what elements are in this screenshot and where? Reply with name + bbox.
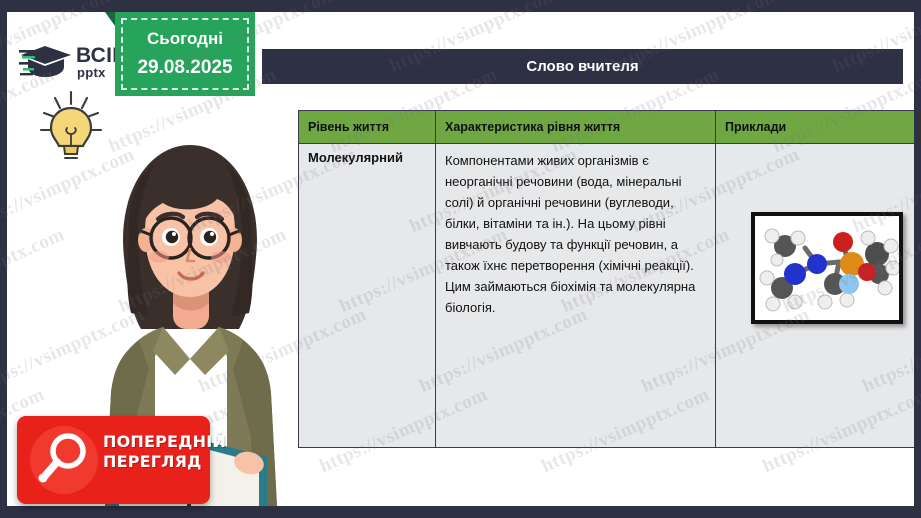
- column-header-characteristic: Характеристика рівня життя: [436, 111, 716, 144]
- life-levels-table: Рівень життя Характеристика рівня життя …: [298, 110, 914, 448]
- logo-text-sub: pptx: [77, 65, 106, 80]
- column-header-level: Рівень життя: [299, 111, 436, 144]
- preview-badge[interactable]: ПОПЕРЕДНІЙ ПЕРЕГЛЯД: [17, 416, 210, 504]
- cell-level-name: Молекулярний: [299, 144, 436, 448]
- table-head: Рівень життя Характеристика рівня життя …: [299, 111, 915, 144]
- table-header-row: Рівень життя Характеристика рівня життя …: [299, 111, 915, 144]
- page-title: Слово вчителя: [526, 58, 638, 75]
- ball-and-stick-molecule-model: [751, 212, 903, 324]
- graduation-cap-icon: [19, 42, 75, 86]
- lightbulb-icon: [37, 84, 105, 166]
- date-ribbon: Сьогодні 29.08.2025: [115, 12, 255, 96]
- slide-header-bar: Слово вчителя: [262, 49, 903, 84]
- preview-badge-line2: ПЕРЕГЛЯД: [103, 452, 207, 472]
- preview-badge-label: ПОПЕРЕДНІЙ ПЕРЕГЛЯД: [103, 432, 207, 472]
- column-header-examples: Приклади: [716, 111, 915, 144]
- table-row: Молекулярний Компонентами живих організм…: [299, 144, 915, 448]
- cell-example: [716, 144, 915, 448]
- table-body: Молекулярний Компонентами живих організм…: [299, 144, 915, 448]
- date-value: 29.08.2025: [115, 57, 255, 79]
- preview-badge-line1: ПОПЕРЕДНІЙ: [103, 432, 207, 452]
- slide-frame: ВСІМ pptx Сьогодні 29.08.2025 Слово вчит…: [0, 0, 921, 518]
- date-today-label: Сьогодні: [115, 29, 255, 49]
- cell-characteristic: Компонентами живих організмів є неоргані…: [436, 144, 716, 448]
- magnifier-icon: [30, 426, 98, 494]
- vsimpptx-logo: ВСІМ pptx: [19, 42, 127, 88]
